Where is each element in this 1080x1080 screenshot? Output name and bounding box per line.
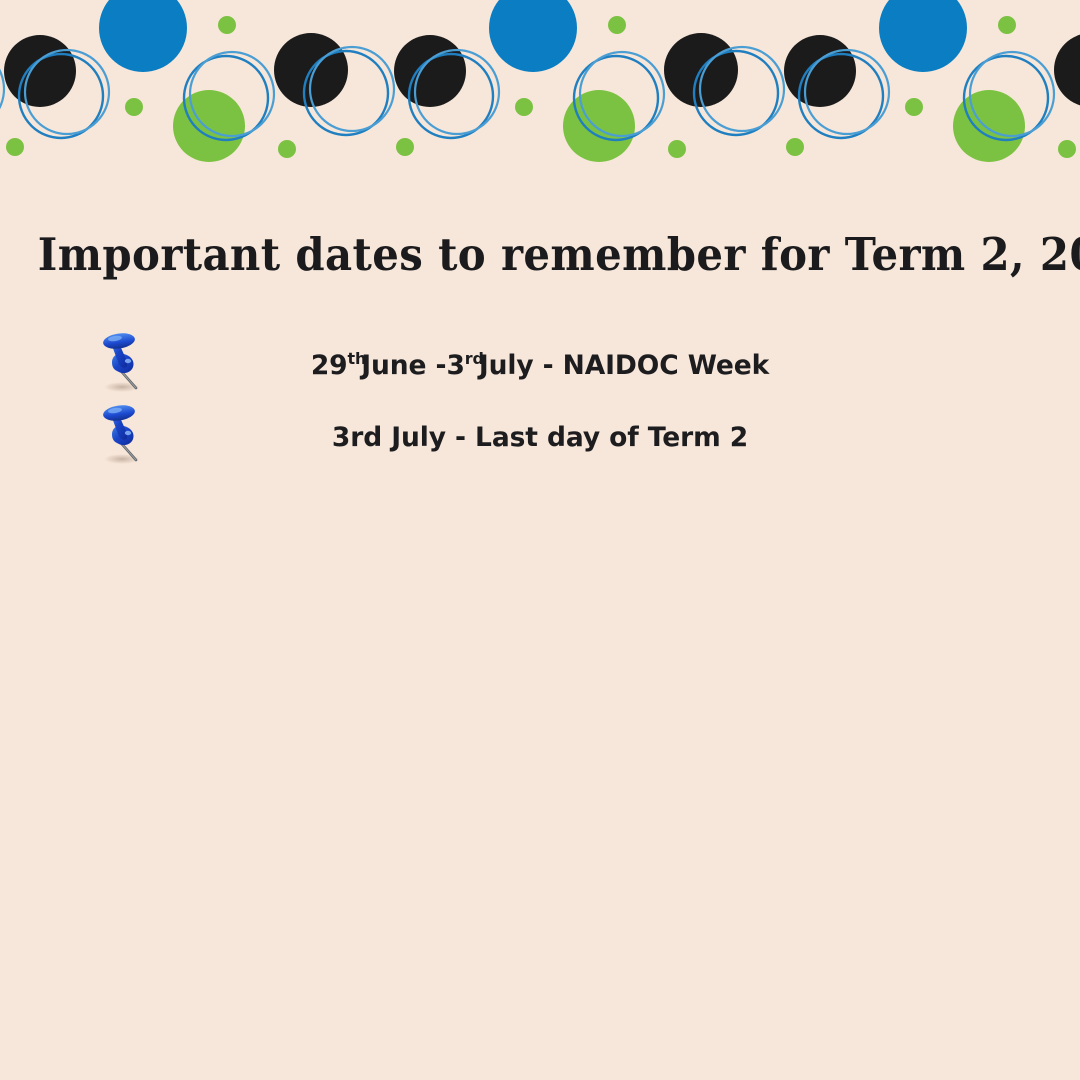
page-title: Important dates to remember for Term 2, … (38, 223, 1042, 287)
list-item: 3rd July - Last day of Term 2 (0, 402, 1080, 474)
date-text-last-day: 3rd July - Last day of Term 2 (0, 402, 1080, 474)
date-day-number: 29 (311, 350, 348, 381)
date-day-number-2: 3 (446, 350, 464, 381)
date-text-naidoc: 29th June - 3rd July - NAIDOC Week (0, 330, 1080, 402)
decorative-circles-band (0, 0, 1080, 190)
date-middle-text: June - (361, 330, 446, 402)
dates-list: 29th June - 3rd July - NAIDOC Week 3rd J… (0, 330, 1080, 474)
circles-pattern-svg (0, 0, 1080, 190)
list-item: 29th June - 3rd July - NAIDOC Week (0, 330, 1080, 402)
date-tail-text: July - NAIDOC Week (479, 330, 769, 402)
